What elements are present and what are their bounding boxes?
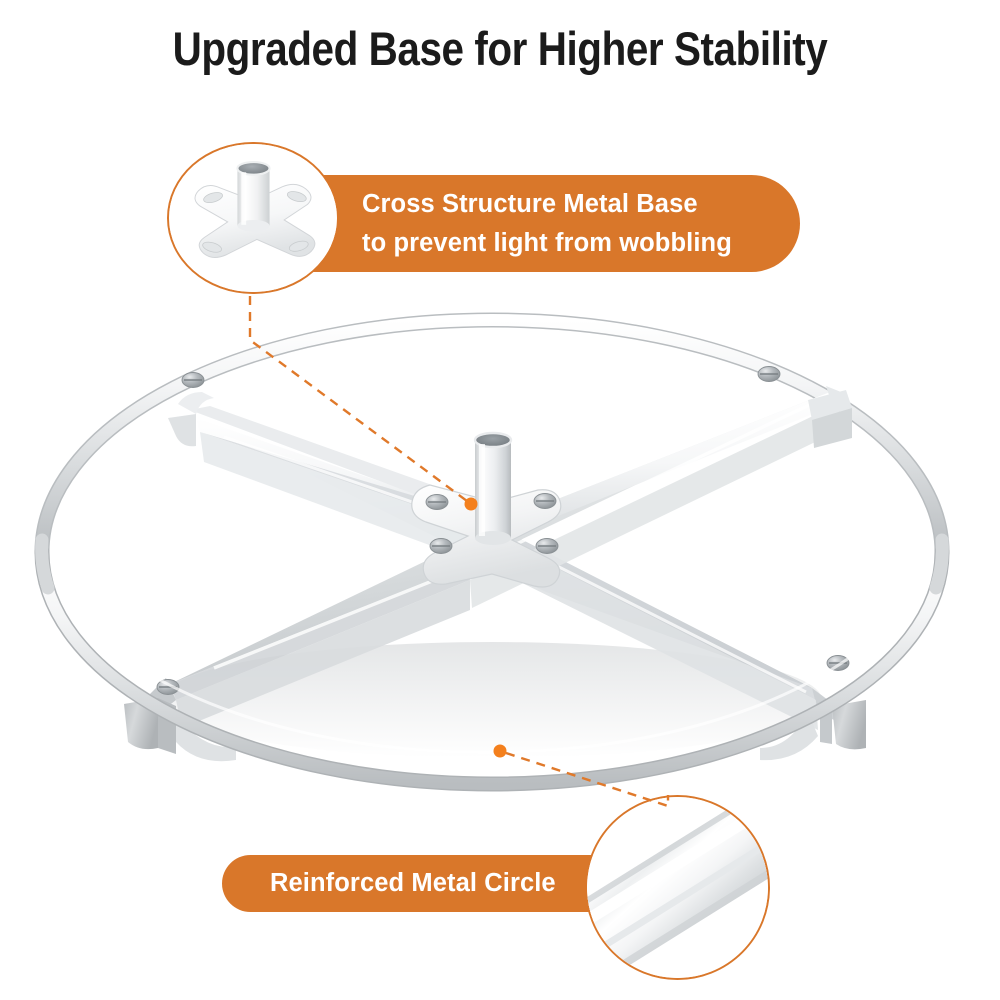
cross-beam-front-back [190,406,838,722]
center-screw-group [426,494,558,554]
reinforced-metal-ring-back [42,320,942,552]
callout-reinforced-circle: Reinforced Metal Circle [222,855,622,912]
center-screw [536,539,558,554]
marker-dot-metal-circle [494,745,507,758]
infographic-page: Upgraded Base for Higher Stability [0,0,1000,1000]
cross-beam-left-right [150,386,848,714]
foot-bracket-group [124,390,866,761]
center-screw [430,539,452,554]
cross-plate-icon [169,144,337,292]
callout-cross-structure-line2: to prevent light from wobbling [362,224,774,263]
cross-structure-metal-base-photo [167,142,339,294]
page-title: Upgraded Base for Higher Stability [70,22,930,76]
center-mounting-plate [412,433,561,587]
corner-screw-group [157,367,849,695]
metal-tube-closeup-icon [587,797,768,978]
corner-screw [157,680,179,695]
beam-flanges [176,404,840,730]
foot-bracket [808,390,852,448]
callout-cross-structure-line1: Cross Structure Metal Base [362,185,774,224]
callout-connectors [0,0,1000,1000]
product-illustration [0,0,1000,1000]
center-screw [534,494,556,509]
corner-screw [827,656,849,671]
marker-dot-cross-structure [465,498,478,511]
foot-bracket [760,700,866,760]
reinforced-metal-ring-front [42,540,943,784]
leader-line-cross-structure [250,296,478,511]
reinforced-metal-circle-photo [585,795,770,980]
foot-bracket [168,392,214,446]
foot-bracket [124,698,236,761]
center-screw [426,495,448,510]
corner-screw [182,373,204,388]
corner-screw [758,367,780,382]
callout-reinforced-circle-line1: Reinforced Metal Circle [270,868,598,899]
